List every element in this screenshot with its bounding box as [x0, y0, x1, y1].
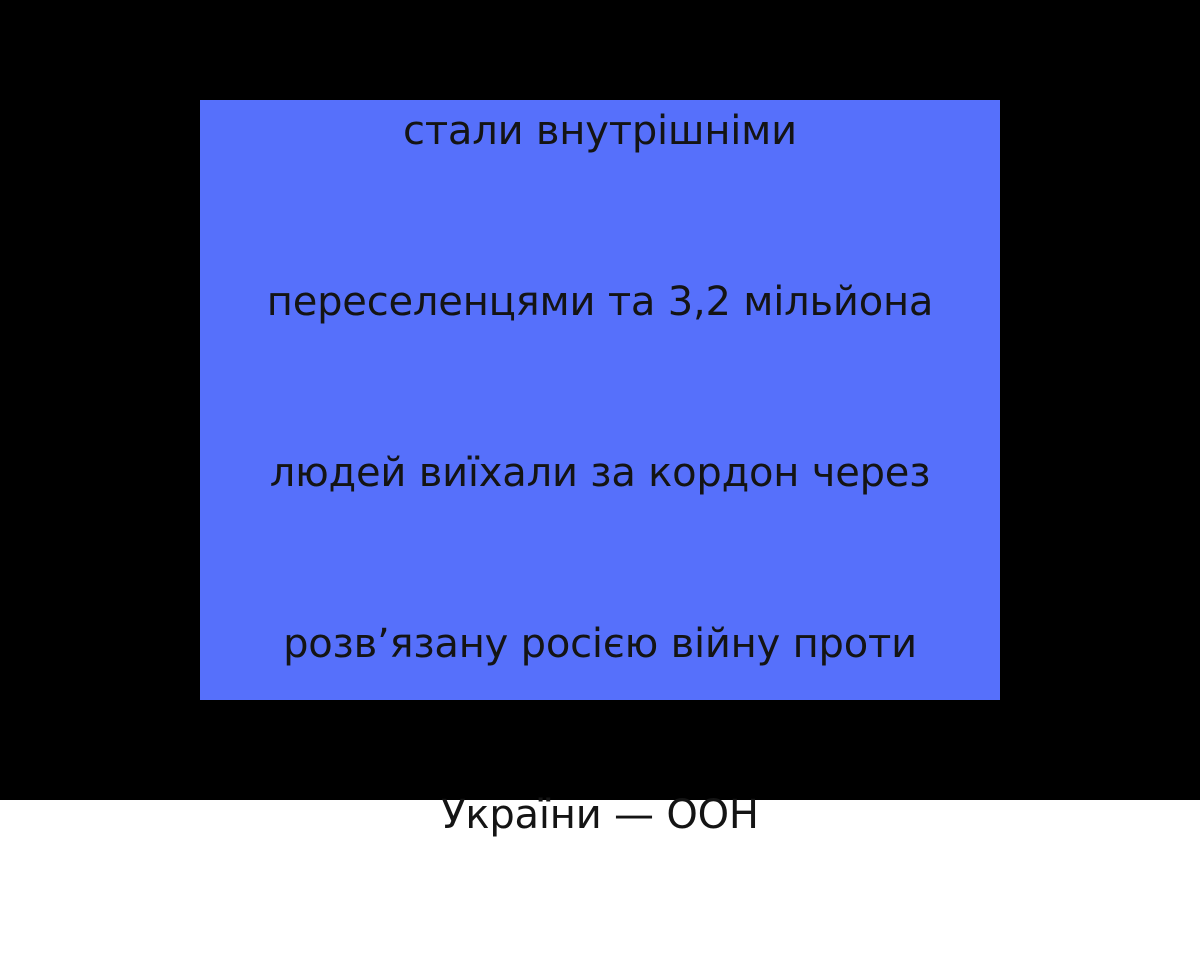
- quote-line-4: людей виїхали за кордон через: [214, 445, 986, 502]
- quote-line-2: стали внутрішніми: [214, 103, 986, 160]
- quote-line-3: переселенцями та 3,2 мільйона: [214, 274, 986, 331]
- quote-card-canvas: Близько 6,5 мільйона україніців стали вн…: [0, 0, 1200, 800]
- quote-line-5: розв’язану росією війну проти: [214, 616, 986, 673]
- quote-text-block: Близько 6,5 мільйона україніців стали вн…: [200, 0, 1000, 958]
- quote-line-6: України — ООН: [214, 787, 986, 844]
- quote-panel: Близько 6,5 мільйона україніців стали вн…: [200, 100, 1000, 700]
